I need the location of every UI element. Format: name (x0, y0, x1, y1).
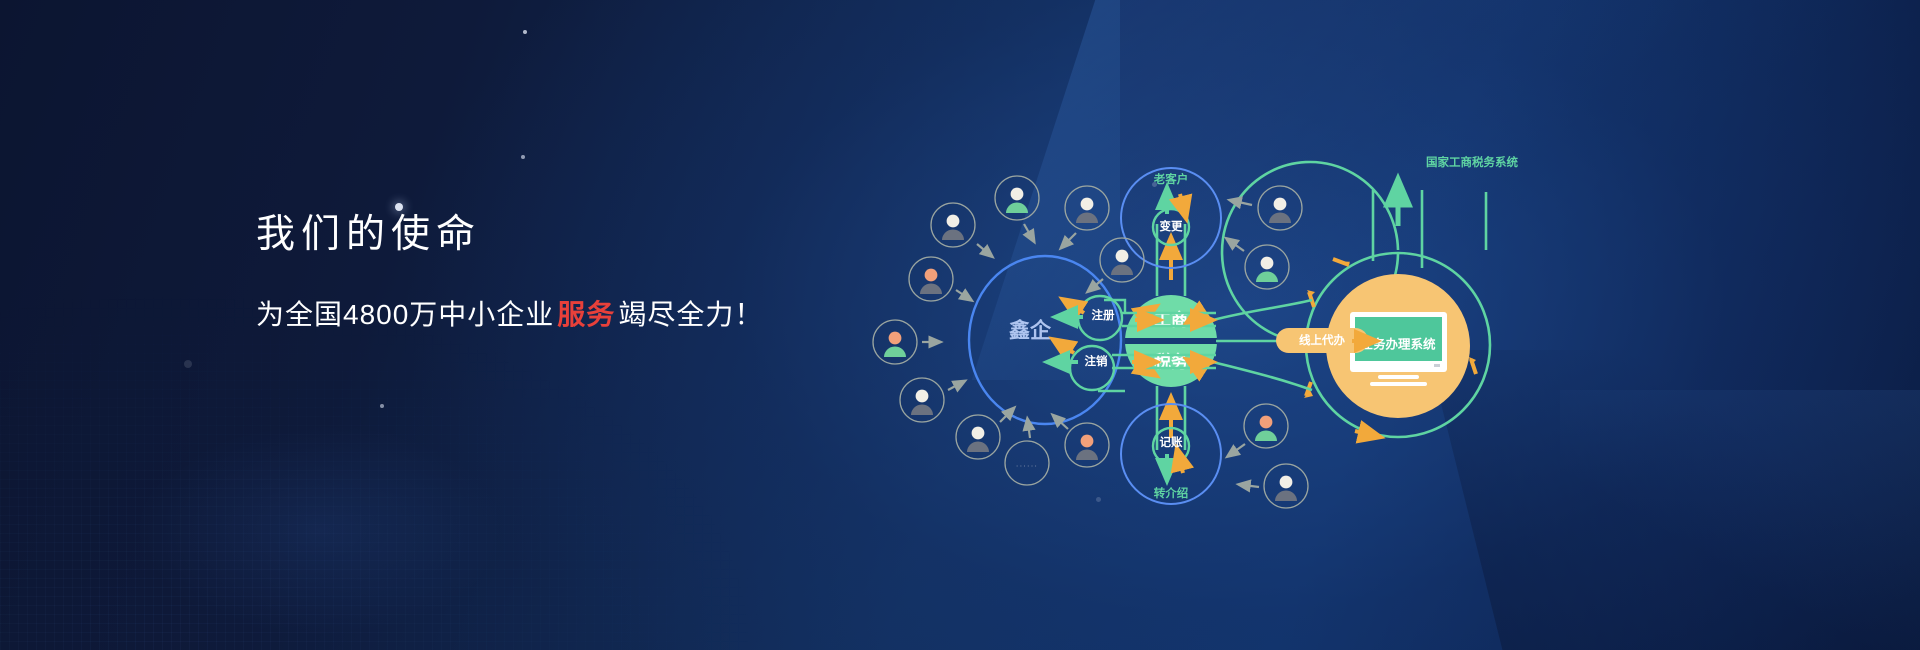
client-avatar (995, 176, 1039, 238)
bottom-loop-label-referral: 转介绍 (1154, 486, 1189, 500)
client-avatar (900, 378, 961, 422)
client-avatar (1064, 186, 1109, 245)
bridge-badge-label: 线上代办 (1299, 333, 1345, 347)
client-avatar (909, 257, 968, 301)
subtitle-after: 竭尽全力！ (618, 299, 763, 330)
top-loop-label-old-customer: 老客户 (1153, 172, 1189, 186)
flow-label-deregister: 注销 (1085, 354, 1108, 368)
background-facet-e (60, 380, 580, 650)
client-avatar (931, 203, 989, 254)
background-facet-d (1560, 390, 1920, 650)
top-loop-avatar (1230, 241, 1289, 289)
bottom-loop-avatar (1243, 464, 1308, 508)
bottom-loop-avatar (1231, 404, 1288, 454)
client-avatar-more: ...... (1005, 423, 1049, 485)
particle-dot (184, 360, 192, 368)
particle-dot-glow (395, 203, 403, 211)
client-avatar (956, 411, 1011, 459)
subtitle-accent: 服务 (554, 299, 618, 330)
bottom-loop-label-bookkeeping: 记账 (1160, 435, 1183, 449)
particle-dot (523, 30, 527, 34)
page-title: 我们的使命 (256, 215, 763, 254)
client-avatar (873, 320, 936, 364)
system-screen-label: 业务办理系统 (1360, 336, 1436, 351)
top-loop-label-change: 变更 (1160, 219, 1183, 233)
client-hub-label: 鑫企 (1008, 319, 1052, 343)
hero-banner: 我们的使命 为全国4800万中小企业服务竭尽全力！ (0, 0, 1920, 650)
background-mesh-texture (0, 290, 760, 650)
flow-label-register: 注册 (1092, 308, 1115, 322)
client-more-indicator: ...... (1016, 458, 1038, 468)
client-avatar (1091, 238, 1144, 289)
particle-dot (521, 155, 525, 159)
hero-subtitle: 为全国4800万中小企业服务竭尽全力！ (256, 293, 763, 333)
hero-copy: 我们的使命 为全国4800万中小企业服务竭尽全力！ (256, 215, 763, 333)
business-flow-diagram: 业务办理系统 国家工商税务系统 (900, 150, 1560, 520)
national-system-label: 国家工商税务系统 (1426, 155, 1518, 169)
client-avatar (1056, 418, 1109, 467)
particle-dot (380, 404, 384, 408)
subtitle-before: 为全国4800万中小企业 (256, 299, 554, 330)
core-node (1125, 295, 1217, 387)
